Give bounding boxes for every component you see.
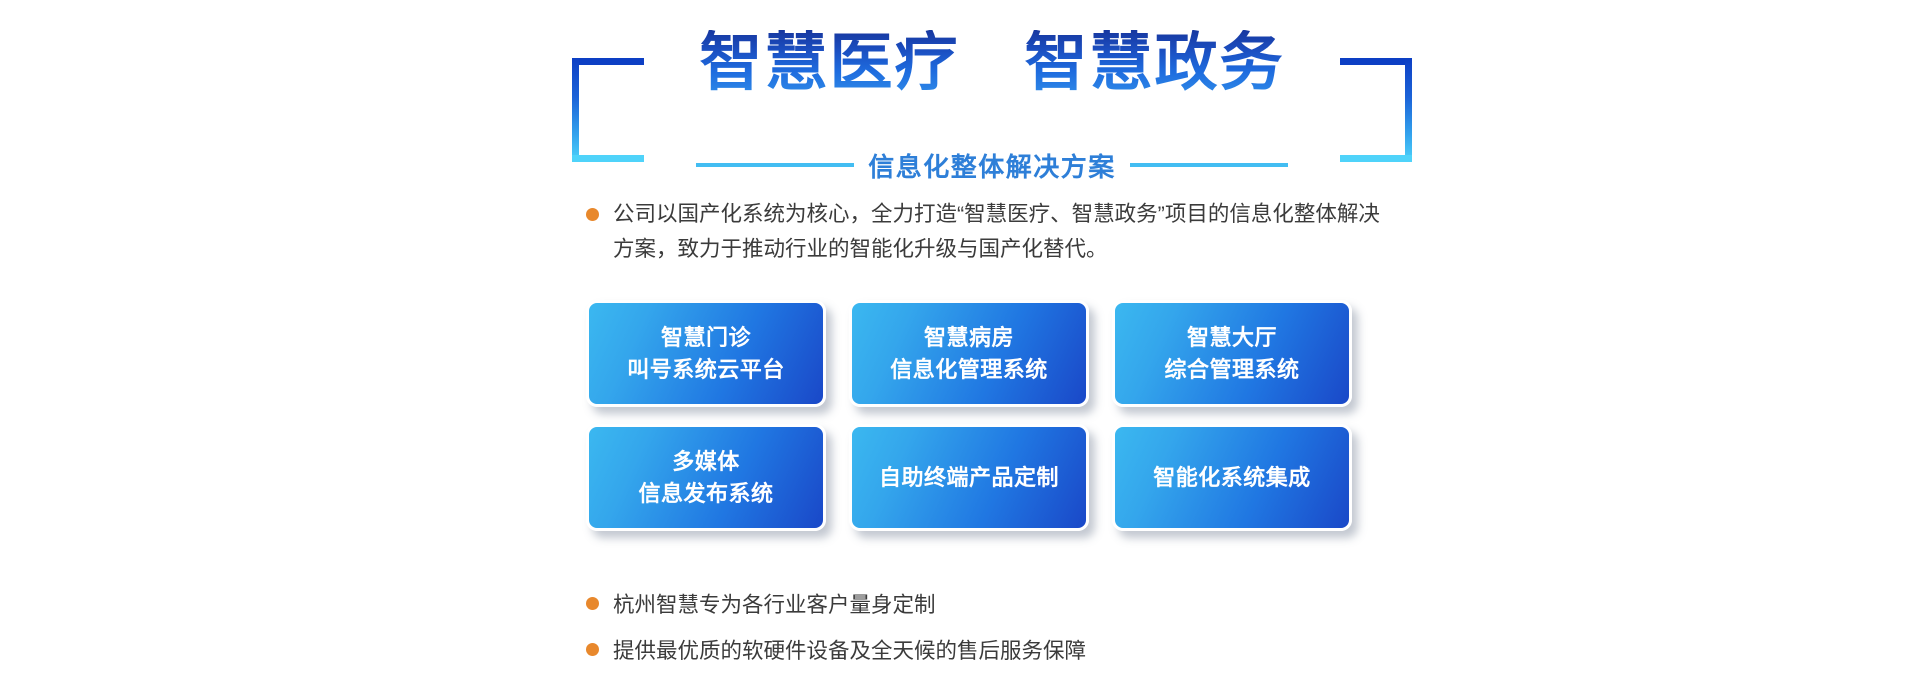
solution-card-label: 智能化系统集成 — [1153, 462, 1311, 493]
bullet-dot-icon — [586, 597, 599, 610]
solution-card-label: 智慧病房 信息化管理系统 — [890, 322, 1048, 384]
feature-bullet-text: 提供最优质的软硬件设备及全天候的售后服务保障 — [613, 634, 1086, 665]
title-block: 智慧医疗 智慧政务 信息化整体解决方案 — [572, 30, 1412, 162]
list-item: 杭州智慧专为各行业客户量身定制 — [586, 580, 1406, 626]
bullet-dot-icon — [586, 208, 599, 221]
intro-paragraph: 公司以国产化系统为核心，全力打造“智慧医疗、智慧政务”项目的信息化整体解决方案，… — [586, 197, 1396, 267]
solution-card[interactable]: 智能化系统集成 — [1112, 424, 1352, 531]
solution-card-label: 智慧门诊 叫号系统云平台 — [627, 322, 785, 384]
page-title: 智慧医疗 智慧政务 — [572, 30, 1412, 96]
solution-card-grid: 智慧门诊 叫号系统云平台 智慧病房 信息化管理系统 智慧大厅 综合管理系统 多媒… — [586, 300, 1352, 531]
solution-card[interactable]: 自助终端产品定制 — [849, 424, 1089, 531]
subtitle-rule-left — [696, 163, 854, 167]
promo-banner: 智慧医疗 智慧政务 信息化整体解决方案 公司以国产化系统为核心，全力打造“智慧医… — [0, 0, 1920, 680]
page-subtitle: 信息化整体解决方案 — [868, 147, 1116, 184]
bullet-dot-icon — [586, 643, 599, 656]
solution-card-label: 智慧大厅 综合管理系统 — [1164, 322, 1299, 384]
feature-bullet-text: 杭州智慧专为各行业客户量身定制 — [613, 588, 936, 619]
solution-card[interactable]: 智慧大厅 综合管理系统 — [1112, 300, 1352, 407]
feature-bullet-list: 杭州智慧专为各行业客户量身定制 提供最优质的软硬件设备及全天候的售后服务保障 — [586, 580, 1406, 672]
solution-card[interactable]: 智慧病房 信息化管理系统 — [849, 300, 1089, 407]
solution-card[interactable]: 多媒体 信息发布系统 — [586, 424, 826, 531]
solution-card[interactable]: 智慧门诊 叫号系统云平台 — [586, 300, 826, 407]
list-item: 提供最优质的软硬件设备及全天候的售后服务保障 — [586, 626, 1406, 672]
solution-card-label: 自助终端产品定制 — [879, 462, 1059, 493]
intro-paragraph-text: 公司以国产化系统为核心，全力打造“智慧医疗、智慧政务”项目的信息化整体解决方案，… — [613, 197, 1396, 267]
subtitle-row: 信息化整体解决方案 — [572, 148, 1412, 182]
subtitle-rule-right — [1130, 163, 1288, 167]
solution-card-label: 多媒体 信息发布系统 — [638, 446, 773, 508]
